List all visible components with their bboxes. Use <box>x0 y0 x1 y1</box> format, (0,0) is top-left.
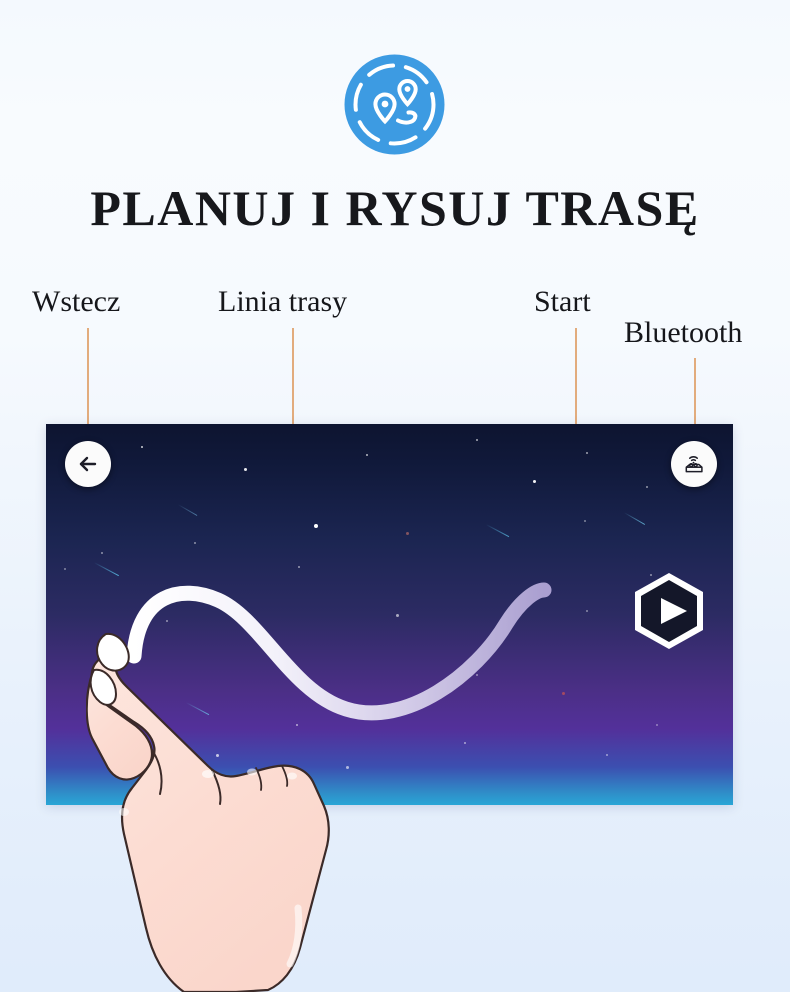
bluetooth-device-icon <box>680 450 708 478</box>
callout-label-route: Linia trasy <box>218 285 347 319</box>
arrow-left-icon <box>76 452 100 476</box>
route-planner-logo <box>342 52 447 157</box>
starfield <box>46 424 733 805</box>
back-button[interactable] <box>65 441 111 487</box>
drawing-canvas[interactable] <box>46 424 733 805</box>
bluetooth-button[interactable] <box>671 441 717 487</box>
callout-label-start: Start <box>534 285 591 319</box>
hexagon-start-shape <box>631 571 707 651</box>
callout-label-bluetooth: Bluetooth <box>624 316 742 350</box>
callout-label-back: Wstecz <box>32 285 120 319</box>
page-title: PLANUJ I RYSUJ TRASĘ <box>0 178 790 238</box>
promo-page: PLANUJ I RYSUJ TRASĘ Wstecz Linia trasy … <box>0 0 790 992</box>
start-button[interactable] <box>631 571 707 651</box>
